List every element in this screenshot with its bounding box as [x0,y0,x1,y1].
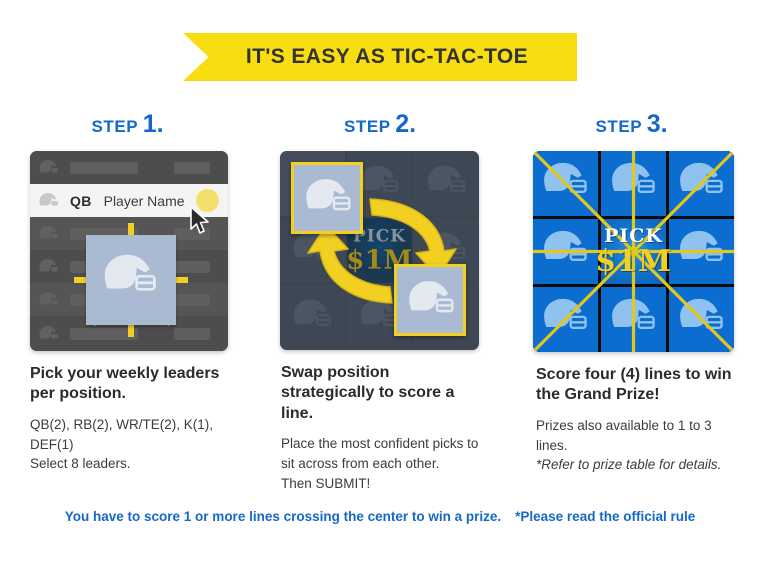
step-2-illustration: PICK $1M [280,151,479,350]
step-column-1: STEP 1. QB [0,112,253,493]
roster-row [30,151,228,184]
banner-tail-left [152,33,183,81]
helmet-icon [38,291,60,308]
steps-row: STEP 1. QB [0,112,760,493]
center-prize-amount: $1M [595,247,671,277]
roster-bar [174,328,210,340]
swap-tile-target[interactable] [394,264,466,336]
step-3-illustration: PICK $1M [533,151,734,352]
banner-shadow-left [152,33,166,43]
helmet-icon [38,192,60,209]
step-2-label: STEP 2. [280,112,484,137]
roster-bar [174,162,210,174]
step-2-heading: Swap position strategically to score a l… [280,363,484,424]
helmet-icon [38,325,60,342]
selected-player-name: Player Name [104,193,185,209]
step-3-word: STEP [595,117,642,136]
step-column-2: STEP 2. [253,112,506,493]
selected-player-card[interactable] [86,235,176,325]
step-1-heading: Pick your weekly leaders per position. [30,364,231,405]
step-1-illustration: QB Player Name [30,151,228,351]
step-1-number: 1. [143,110,164,138]
footer-official-rule-link[interactable]: *Please read the official rule [515,509,695,524]
step-1-body-line-1: QB(2), RB(2), WR/TE(2), K(1), DEF(1) [30,415,231,454]
step-3-body-line-1: Prizes also available to 1 to 3 lines. [536,416,734,455]
mouse-cursor-icon [189,206,211,236]
selected-position-label: QB [70,193,92,209]
footer-main-text: You have to score 1 or more lines crossi… [65,509,501,524]
step-2-body: Place the most confident picks to sit ac… [280,434,484,493]
step-column-3: STEP 3. [506,112,759,493]
headline-banner: IT'S EASY AS TIC-TAC-TOE [183,33,577,81]
step-2-number: 2. [395,110,416,138]
grid-cell-center[interactable]: PICK $1M [601,219,666,284]
step-2-word: STEP [344,117,391,136]
banner-shadow-right [594,33,608,43]
footer-region: You have to score 1 or more lines crossi… [0,509,760,524]
step-1-label: STEP 1. [30,112,231,137]
roster-bar [174,294,210,306]
helmet-icon [38,159,60,176]
step-1-body-line-2: Select 8 leaders. [30,454,231,474]
roster-bar [174,261,210,273]
step-1-word: STEP [91,117,138,136]
step-3-label: STEP 3. [533,112,734,137]
helmet-icon [38,258,60,275]
step-3-body-line-2: *Refer to prize table for details. [536,455,734,475]
step-2-body-line-1: Place the most confident picks to sit ac… [281,434,484,473]
step-3-heading: Score four (4) lines to win the Grand Pr… [533,365,734,406]
roster-bar [70,162,138,174]
step-2-body-line-2: Then SUBMIT! [281,474,484,494]
step-1-body: QB(2), RB(2), WR/TE(2), K(1), DEF(1) Sel… [30,415,231,474]
helmet-icon [303,176,355,226]
helmet-icon [101,251,161,309]
helmet-icon [406,278,458,328]
banner-tail-right [577,33,608,81]
step-3-body: Prizes also available to 1 to 3 lines. *… [533,416,734,475]
promo-page: IT'S EASY AS TIC-TAC-TOE STEP 1. [0,0,760,572]
step-3-number: 3. [647,110,668,138]
banner-title: IT'S EASY AS TIC-TAC-TOE [232,45,528,69]
center-prize-label: PICK $1M [595,227,671,277]
banner-region: IT'S EASY AS TIC-TAC-TOE [0,33,760,81]
swap-tile-source[interactable] [291,162,363,234]
helmet-icon [38,225,60,242]
